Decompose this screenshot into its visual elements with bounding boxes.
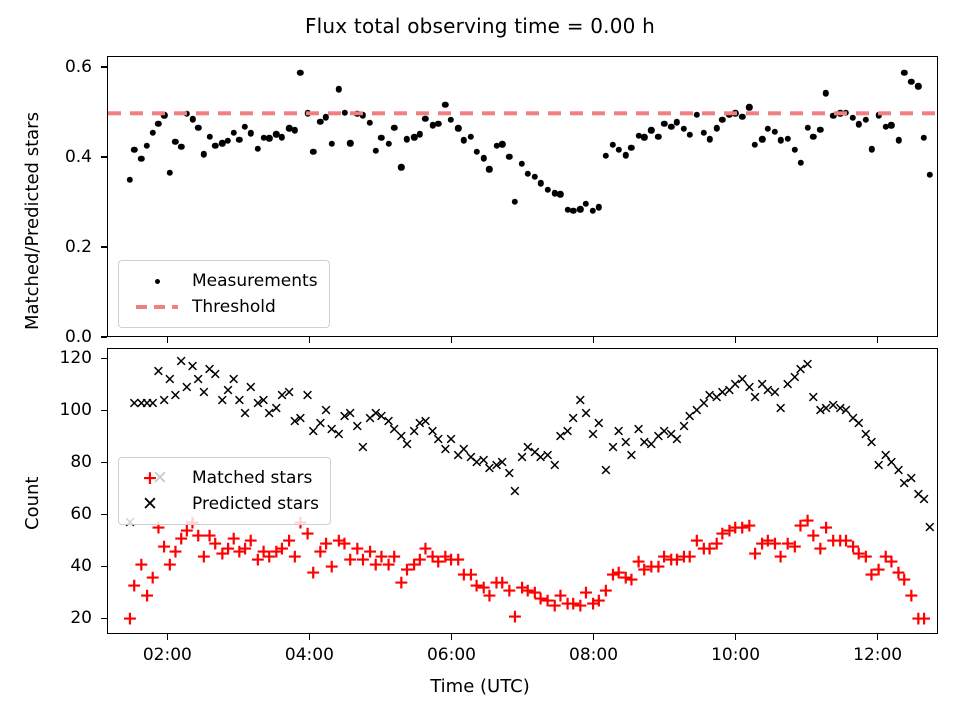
data-point [279, 134, 285, 140]
data-point: + [747, 545, 763, 564]
data-point: ✕ [683, 409, 696, 424]
data-point: ✕ [665, 427, 678, 442]
data-point [127, 177, 133, 183]
data-point: ✕ [263, 407, 276, 422]
data-point: ✕ [198, 386, 211, 401]
data-point: + [463, 566, 479, 585]
data-point [391, 124, 397, 130]
data-point: ✕ [146, 396, 159, 411]
data-point: + [207, 535, 223, 554]
data-point: ✕ [483, 461, 496, 476]
data-point: + [591, 592, 607, 611]
data-point [336, 86, 342, 92]
data-point: ✕ [587, 427, 600, 442]
data-point: ✕ [612, 425, 625, 440]
data-point: + [412, 550, 428, 569]
data-point: + [689, 532, 705, 551]
data-point [623, 152, 629, 158]
legend-item-matched-stars: + ✕ Matched stars [128, 465, 319, 491]
data-point [701, 130, 707, 136]
data-point: + [450, 550, 466, 569]
data-point: ✕ [729, 378, 742, 393]
data-point: + [787, 537, 803, 556]
data-point [596, 204, 602, 210]
data-point [255, 146, 261, 152]
data-point [417, 131, 423, 137]
data-point [189, 116, 195, 122]
x-tick-label: 12:00 [853, 645, 902, 665]
data-point [347, 140, 353, 146]
data-point: + [430, 553, 446, 572]
data-point [850, 114, 856, 120]
data-point [310, 149, 316, 155]
x-tick-mark [735, 634, 737, 640]
data-point: ✕ [320, 404, 333, 419]
data-point: ✕ [333, 427, 346, 442]
data-point: ✕ [801, 357, 814, 372]
data-point: + [256, 542, 272, 561]
data-point: ✕ [470, 456, 483, 471]
legend-label-measurements: Measurements [186, 271, 318, 291]
data-point: + [767, 535, 783, 554]
data-point: ✕ [638, 435, 651, 450]
data-point: ✕ [529, 446, 542, 461]
data-point: ✕ [554, 430, 567, 445]
data-point: + [437, 548, 453, 567]
data-point: + [702, 540, 718, 559]
data-point: ✕ [465, 451, 478, 466]
data-point: ✕ [227, 373, 240, 388]
data-point [817, 127, 823, 133]
bottom-panel-plot-area: ✕✕✕✕✕✕✕✕✕✕✕✕✕✕✕✕✕✕✕✕✕✕✕✕✕✕✕✕✕✕✕✕✕✕✕✕✕✕✕✕… [107, 348, 938, 634]
data-point: ✕ [898, 477, 911, 492]
data-point [648, 127, 654, 133]
data-point: + [734, 519, 750, 538]
data-point: ✕ [756, 378, 769, 393]
data-point: + [636, 561, 652, 580]
threshold-dashline-icon [128, 305, 186, 308]
data-point: ✕ [658, 425, 671, 440]
data-point: + [469, 576, 485, 595]
data-point [512, 199, 518, 205]
data-point [615, 147, 621, 153]
data-point [823, 90, 829, 96]
data-point: + [196, 548, 212, 567]
data-point: + [489, 574, 505, 593]
x-tick-mark [593, 337, 595, 343]
data-point: + [883, 553, 899, 572]
data-point: ✕ [152, 365, 165, 380]
data-point: + [669, 550, 685, 569]
data-point [506, 154, 512, 160]
data-point: ✕ [885, 456, 898, 471]
data-point [178, 144, 184, 150]
data-point: + [916, 610, 932, 629]
data-point: ✕ [923, 521, 936, 536]
data-point [231, 129, 237, 135]
x-tick-mark [593, 634, 595, 640]
x-tick-mark [451, 337, 453, 343]
data-point [868, 146, 874, 152]
top-panel-y-axis-label: Matched/Predicted stars [22, 112, 43, 330]
data-point [323, 114, 329, 120]
data-point [422, 115, 428, 121]
data-point: + [331, 532, 347, 551]
data-point [915, 83, 921, 89]
data-point: + [560, 594, 576, 613]
data-point [759, 136, 765, 142]
data-point: ✕ [834, 401, 847, 416]
data-point: ✕ [276, 388, 289, 403]
data-point: + [851, 545, 867, 564]
data-point: ✕ [239, 407, 252, 422]
data-point: + [494, 574, 510, 593]
data-point: ✕ [283, 386, 296, 401]
data-point: + [714, 524, 730, 543]
data-point: + [190, 527, 206, 546]
x-tick-mark [877, 337, 879, 343]
data-point: ✕ [769, 386, 782, 401]
data-point [668, 123, 674, 129]
data-point [557, 191, 563, 197]
data-point: ✕ [163, 373, 176, 388]
data-point: ✕ [408, 425, 421, 440]
data-point: ✕ [401, 438, 414, 453]
data-point: + [481, 587, 497, 606]
data-point: + [324, 558, 340, 577]
data-point: + [162, 555, 178, 574]
data-point [455, 125, 461, 131]
data-point: ✕ [395, 430, 408, 445]
data-point: + [381, 555, 397, 574]
data-point: ✕ [216, 394, 229, 409]
y-tick-label: 60 [32, 504, 92, 524]
data-point: + [122, 610, 138, 629]
data-point: + [605, 566, 621, 585]
data-point: ✕ [222, 383, 235, 398]
data-point: ✕ [879, 448, 892, 463]
y-tick-label: 100 [32, 400, 92, 420]
data-point: ✕ [294, 412, 307, 427]
data-point [206, 133, 212, 139]
data-point: + [572, 597, 588, 616]
data-point [706, 136, 712, 142]
data-point [797, 160, 803, 166]
data-point: ✕ [814, 404, 827, 419]
data-point: + [501, 581, 517, 600]
data-point [674, 119, 680, 125]
data-point: + [139, 587, 155, 606]
data-point: ✕ [351, 420, 364, 435]
data-point: + [812, 540, 828, 559]
data-point: + [168, 542, 184, 561]
data-point [628, 145, 634, 151]
data-point: + [793, 516, 809, 535]
data-point: ✕ [503, 466, 516, 481]
data-point [519, 160, 525, 166]
data-point [525, 171, 531, 177]
data-point: + [676, 548, 692, 567]
data-point: + [399, 561, 415, 580]
x-tick-mark [735, 337, 737, 343]
data-point [292, 127, 298, 133]
data-point [155, 121, 161, 127]
data-point: + [585, 594, 601, 613]
data-point [461, 137, 467, 143]
data-point: + [540, 592, 556, 611]
data-point: + [903, 587, 919, 606]
data-point [499, 141, 505, 147]
data-point: ✕ [580, 407, 593, 422]
data-point: ✕ [375, 409, 388, 424]
data-point: ✕ [192, 373, 205, 388]
x-tick-mark [877, 634, 879, 640]
x-axis-label: Time (UTC) [0, 676, 960, 697]
figure-canvas: Flux total observing time = 0.00 h Match… [0, 0, 960, 720]
data-point: + [741, 516, 757, 535]
data-point: ✕ [781, 378, 794, 393]
data-point: + [547, 597, 563, 616]
data-point [927, 172, 933, 178]
data-point: ✕ [710, 391, 723, 406]
data-point: + [858, 548, 874, 567]
x-tick-label: 06:00 [427, 645, 476, 665]
data-point [266, 135, 272, 141]
data-point: + [355, 550, 371, 569]
data-point: + [623, 571, 639, 590]
data-point: + [126, 576, 142, 595]
data-point: ✕ [364, 412, 377, 427]
data-point [603, 153, 609, 159]
data-point: ✕ [203, 362, 216, 377]
data-point [752, 141, 758, 147]
y-tick-label: 0.4 [32, 147, 92, 167]
data-point: ✕ [388, 422, 401, 437]
data-point: ✕ [632, 422, 645, 437]
legend-label-predicted-stars: Predicted stars [186, 494, 319, 514]
data-point: ✕ [820, 401, 833, 416]
x-tick-mark [309, 337, 311, 343]
data-point: + [527, 584, 543, 603]
data-point [570, 208, 576, 214]
data-point: ✕ [414, 417, 427, 432]
data-point [150, 130, 156, 136]
data-point: ✕ [369, 407, 382, 422]
data-point: + [598, 581, 614, 600]
data-point: + [722, 522, 738, 541]
data-point: ✕ [244, 381, 257, 396]
data-point [544, 186, 550, 192]
threshold-line [108, 111, 937, 114]
data-point: ✕ [325, 422, 338, 437]
x-tick-mark [167, 634, 169, 640]
data-point: + [709, 535, 725, 554]
data-point: ✕ [181, 381, 194, 396]
data-point: ✕ [490, 459, 503, 474]
data-point: + [507, 607, 523, 626]
data-point: ✕ [905, 472, 918, 487]
data-point: + [611, 563, 627, 582]
data-point: + [214, 545, 230, 564]
data-point [908, 79, 914, 85]
data-point [473, 149, 479, 155]
data-point: + [805, 527, 821, 546]
data-point: + [533, 589, 549, 608]
data-point [895, 137, 901, 143]
data-point: ✕ [865, 435, 878, 450]
measurements-dot-icon [128, 279, 186, 284]
data-point: + [287, 548, 303, 567]
data-point: ✕ [357, 440, 370, 455]
data-point: ✕ [445, 433, 458, 448]
data-point: + [368, 555, 384, 574]
data-point: ✕ [169, 388, 182, 403]
y-tick-label: 0.2 [32, 237, 92, 257]
data-point: + [373, 548, 389, 567]
data-point: + [552, 587, 568, 606]
x-tick-mark [309, 634, 311, 640]
chart-title: Flux total observing time = 0.00 h [0, 14, 960, 38]
data-point [785, 136, 791, 142]
data-point: ✕ [652, 430, 665, 445]
legend-item-threshold: Threshold [128, 294, 318, 320]
data-point [655, 133, 661, 139]
data-point [373, 147, 379, 153]
data-point [225, 138, 231, 144]
data-point: + [300, 524, 316, 543]
data-point: + [696, 540, 712, 559]
data-point: + [406, 555, 422, 574]
data-point: + [268, 542, 284, 561]
data-point: ✕ [257, 394, 270, 409]
data-point: + [878, 548, 894, 567]
y-tick-label: 80 [32, 452, 92, 472]
data-point [468, 134, 474, 140]
data-point: + [760, 532, 776, 551]
data-point [131, 147, 137, 153]
legend-item-predicted-stars: ✕ Predicted stars [128, 491, 319, 517]
y-tick-label: 120 [32, 348, 92, 368]
data-point [329, 141, 335, 147]
data-point: + [832, 532, 848, 551]
data-point [167, 170, 173, 176]
x-tick-mark [451, 634, 453, 640]
data-point: + [173, 529, 189, 548]
data-point: + [237, 540, 253, 559]
data-point: ✕ [762, 383, 775, 398]
data-point: + [261, 548, 277, 567]
top-panel-legend: Measurements Threshold [118, 260, 330, 328]
data-point: + [281, 532, 297, 551]
data-point: + [754, 535, 770, 554]
data-point: ✕ [607, 440, 620, 455]
y-tick-label: 40 [32, 556, 92, 576]
data-point: ✕ [918, 492, 931, 507]
data-point: ✕ [794, 362, 807, 377]
data-point: ✕ [452, 448, 465, 463]
data-point: ✕ [691, 404, 704, 419]
data-point: + [864, 566, 880, 585]
data-point: ✕ [567, 412, 580, 427]
data-point [201, 151, 207, 157]
data-point [236, 137, 242, 143]
data-point: + [656, 548, 672, 567]
data-point: ✕ [789, 370, 802, 385]
data-point: + [845, 537, 861, 556]
y-tick-label: 20 [32, 608, 92, 628]
data-point: + [418, 540, 434, 559]
x-tick-mark [167, 337, 169, 343]
data-point [772, 129, 778, 135]
data-point [442, 102, 448, 108]
data-point [804, 124, 810, 130]
data-point: + [838, 532, 854, 551]
data-point: ✕ [186, 360, 199, 375]
data-point: ✕ [574, 394, 587, 409]
data-point [921, 135, 927, 141]
data-point: ✕ [736, 373, 749, 388]
data-point: ✕ [432, 433, 445, 448]
data-point: + [318, 535, 334, 554]
data-point [810, 133, 816, 139]
data-point: ✕ [749, 391, 762, 406]
x-tick-label: 02:00 [143, 645, 192, 665]
data-point: + [650, 558, 666, 577]
data-point: + [780, 535, 796, 554]
data-point: + [727, 519, 743, 538]
data-point [577, 206, 583, 212]
data-point: ✕ [338, 409, 351, 424]
bottom-panel-legend: + ✕ Matched stars ✕ Predicted stars [118, 457, 331, 525]
data-point: ✕ [439, 443, 452, 458]
data-point: + [349, 540, 365, 559]
x-tick-label: 10:00 [711, 645, 760, 665]
data-point: + [565, 594, 581, 613]
data-point: ✕ [301, 388, 314, 403]
data-point: ✕ [141, 396, 154, 411]
data-point: ✕ [716, 386, 729, 401]
data-point: ✕ [496, 456, 509, 471]
data-point: ✕ [645, 438, 658, 453]
data-point: + [305, 563, 321, 582]
legend-item-measurements: Measurements [128, 268, 318, 294]
data-point [681, 126, 687, 132]
data-point: ✕ [860, 427, 873, 442]
x-tick-label: 08:00 [569, 645, 618, 665]
data-point: + [456, 566, 472, 585]
data-point: ✕ [723, 383, 736, 398]
top-panel-plot-area: Measurements Threshold [107, 56, 938, 337]
data-point: + [682, 548, 698, 567]
data-point [746, 104, 752, 110]
data-point: + [362, 542, 378, 561]
data-point: ✕ [128, 396, 141, 411]
data-point [317, 119, 323, 125]
data-point [481, 155, 487, 161]
data-point: + [618, 568, 634, 587]
data-point: + [578, 584, 594, 603]
data-point: ✕ [516, 451, 529, 466]
data-point: + [896, 571, 912, 590]
data-point [641, 134, 647, 140]
data-point: + [274, 540, 290, 559]
data-point: ✕ [521, 440, 534, 455]
data-point: ✕ [625, 448, 638, 463]
data-point [713, 125, 719, 131]
data-point: + [773, 548, 789, 567]
data-point: ✕ [233, 394, 246, 409]
data-point [385, 141, 391, 147]
